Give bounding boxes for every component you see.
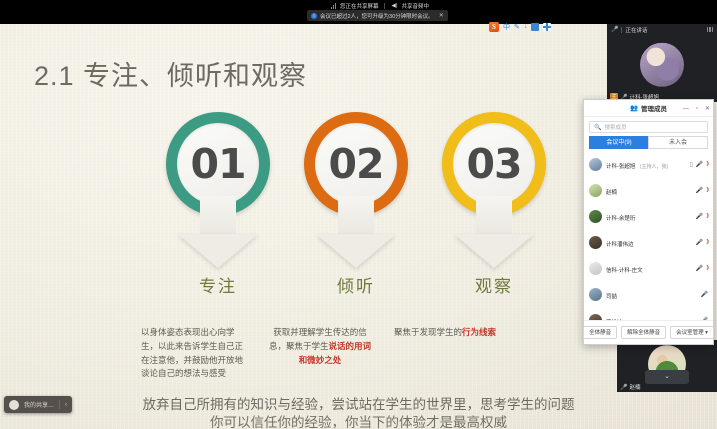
pin-number-3: 03 — [442, 112, 546, 216]
participant-info: 计科-张超旭 (主持人，我) — [606, 155, 686, 173]
participant-name: 计科-张超旭 — [606, 164, 635, 170]
pen-icon[interactable]: ✎ — [514, 23, 520, 31]
audio-wave-icon: )) — [706, 239, 708, 245]
divider — [59, 400, 60, 409]
pin-marker-1: 01 专注 — [152, 112, 284, 297]
participant-info: 贾皓迪 — [606, 311, 697, 320]
user-avatar-icon — [9, 400, 19, 410]
audio-wave-icon: )) — [706, 187, 708, 193]
mic-icon[interactable]: ↓ — [524, 23, 528, 30]
members-panel: 👥 管理成员 — ▫ ✕ 🔍 搜索成员 会议中(9) 未入会 计科-张超旭 (主… — [583, 99, 714, 345]
avatar — [589, 210, 602, 223]
slide-footer-line-2: 你可以信任你的经验，你当下的体验才是最高权威 — [0, 414, 717, 429]
notification-toast: i 会议已超过2人，您可升级为30分钟限时会议。 ✕ — [307, 10, 448, 21]
page-title: 2.1 专注、倾听和观察 — [34, 54, 307, 93]
mute-all-button[interactable]: 全体静音 — [583, 326, 617, 339]
list-item[interactable]: 计科-张超旭 (主持人，我) ▯ 🎤 )) — [584, 151, 713, 177]
audio-wave-icon: )) — [706, 161, 708, 167]
panel-footer: 全体静音 解除全体静音 会议室管理 ▾ — [584, 320, 713, 344]
signal-bars-icon — [331, 3, 336, 9]
video-tile-footer: 🎤 赵楠 — [617, 382, 644, 392]
mic-muted-icon[interactable]: 🎤 — [701, 291, 708, 298]
panel-title: 👥 管理成员 — [630, 103, 667, 113]
pin-label-3: 观察 — [428, 272, 560, 297]
mic-muted-icon[interactable]: 🎤 — [696, 187, 703, 194]
participant-name: 计科潘伟边 — [606, 242, 634, 248]
divider — [621, 27, 622, 33]
body-column-2: 获取并理解学生传达的信息，聚焦于学生说话的用词和微妙之处 — [266, 326, 374, 367]
mic-muted-icon[interactable]: 🎤 — [696, 239, 703, 246]
tab-not-joined[interactable]: 未入会 — [648, 136, 708, 149]
video-tile-participant[interactable]: 🎤 赵楠 — [617, 340, 717, 392]
audio-wave-icon: )) — [706, 265, 708, 271]
pin-label-2: 倾听 — [290, 272, 422, 297]
avatar — [589, 288, 602, 301]
close-icon[interactable]: ✕ — [705, 105, 710, 112]
participant-list[interactable]: 计科-张超旭 (主持人，我) ▯ 🎤 )) 赵楠 🎤 )) — [584, 149, 713, 320]
participant-info: 信科-计科-庄文 — [606, 259, 692, 277]
body-column-1: 以身体姿态表现出心向学生，以此来告诉学生自己正在注意他，并鼓励他开放地谈论自己的… — [141, 326, 249, 381]
mic-icon: 🎤 — [611, 26, 618, 33]
pin-ring-1: 01 — [166, 112, 270, 216]
search-box[interactable]: 🔍 搜索成员 — [589, 121, 708, 133]
list-item[interactable]: 贾皓迪 🎤 — [584, 307, 713, 320]
body-highlight-3: 行为线索 — [462, 327, 496, 337]
participant-name: 赵楠 — [629, 383, 640, 391]
close-icon[interactable]: ✕ — [439, 12, 444, 19]
participant-controls[interactable]: 🎤 )) — [696, 213, 708, 220]
participant-name: 信科-计科-庄文 — [606, 268, 643, 274]
avatar — [589, 262, 602, 275]
avatar — [589, 184, 602, 197]
panel-tabs: 会议中(9) 未入会 — [589, 136, 708, 149]
unmute-all-button[interactable]: 解除全体静音 — [621, 326, 666, 339]
pin-ring-2: 02 — [304, 112, 408, 216]
participant-controls[interactable]: 🎤 )) — [696, 239, 708, 246]
participant-info: 赵楠 — [606, 181, 692, 199]
tab-in-meeting[interactable]: 会议中(9) — [589, 136, 648, 149]
ime-toolbar[interactable]: S 中 ✎ ↓ — [487, 20, 553, 33]
minimize-icon[interactable]: — — [683, 106, 689, 112]
body-column-3: 聚焦于发现学生的行为线索 — [394, 326, 554, 340]
maximize-icon[interactable]: ▫ — [696, 106, 698, 112]
list-item[interactable]: 司喆 🎤 — [584, 281, 713, 307]
notification-text: 会议已超过2人，您可升级为30分钟限时会议。 — [320, 12, 434, 20]
audio-wave-icon: )) — [706, 213, 708, 219]
avatar — [640, 43, 684, 87]
pin-ring-3: 03 — [442, 112, 546, 216]
participant-controls[interactable]: 🎤 )) — [696, 265, 708, 272]
participant-name: 赵楠 — [606, 190, 617, 196]
panel-titlebar: 👥 管理成员 — ▫ ✕ — [584, 100, 713, 117]
list-item[interactable]: 赵楠 🎤 )) — [584, 177, 713, 203]
people-icon: 👥 — [630, 104, 638, 112]
grid-icon[interactable] — [543, 23, 551, 31]
mic-muted-icon[interactable]: 🎤 — [696, 161, 703, 168]
participant-role: (主持人，我) — [640, 164, 668, 170]
participant-controls[interactable]: ▯ 🎤 )) — [690, 161, 708, 168]
video-tile-speaker[interactable]: 🎤 正在讲话 主 🎤 计科-张超旭 — [607, 24, 717, 102]
search-input[interactable]: 搜索成员 — [604, 123, 626, 131]
collapse-video-panel-button[interactable]: ⌄ — [645, 370, 689, 384]
slide-footer: 放弃自己所拥有的知识与经验，尝试站在学生的世界里，思考学生的问题 你可以信任你的… — [0, 396, 717, 429]
slide-footer-line-1: 放弃自己所拥有的知识与经验，尝试站在学生的世界里，思考学生的问题 — [0, 396, 717, 414]
share-audio-label: 共享音频中 — [402, 2, 430, 10]
list-item[interactable]: 信科-计科-庄文 🎤 )) — [584, 255, 713, 281]
signal-bars-icon — [707, 27, 714, 32]
mic-muted-icon: 🎤 — [620, 384, 627, 391]
participant-info: 计科-余楚珩 — [606, 207, 692, 225]
pin-label-1: 专注 — [152, 272, 284, 297]
body-text-3: 聚焦于发现学生的 — [394, 327, 462, 337]
pin-marker-2: 02 倾听 — [290, 112, 422, 297]
mic-muted-icon[interactable]: 🎤 — [696, 265, 703, 272]
mic-muted-icon[interactable]: 🎤 — [696, 213, 703, 220]
room-management-button[interactable]: 会议室管理 ▾ — [670, 326, 714, 339]
list-item[interactable]: 计科-余楚珩 🎤 )) — [584, 203, 713, 229]
search-icon: 🔍 — [594, 124, 601, 131]
participant-controls[interactable]: 🎤 — [701, 291, 708, 298]
speaking-status-label: 正在讲话 — [625, 26, 647, 34]
list-item[interactable]: 计科潘伟边 🎤 )) — [584, 229, 713, 255]
mini-toolbar-label: 我的共享… — [24, 400, 54, 409]
avatar — [589, 158, 602, 171]
info-icon: i — [311, 13, 317, 19]
participant-info: 司喆 — [606, 285, 697, 303]
screen-share-label: 您正在共享屏幕 — [340, 2, 379, 10]
camera-icon[interactable]: ▯ — [690, 161, 693, 168]
video-tile-header: 🎤 正在讲话 — [607, 24, 717, 35]
chevron-left-icon[interactable]: ‹ — [65, 402, 67, 408]
ime-language-toggle[interactable]: 中 — [503, 22, 510, 32]
screen-root: 2.1 专注、倾听和观察 01 专注 02 倾听 03 — [0, 0, 717, 429]
screen-share-indicator: 您正在共享屏幕 ◀) 共享音频中 — [331, 1, 429, 10]
pin-number-2: 02 — [304, 112, 408, 216]
divider — [384, 3, 385, 9]
window-controls: — ▫ ✕ — [683, 100, 710, 117]
pin-marker-3: 03 观察 — [428, 112, 560, 297]
share-mini-toolbar[interactable]: 我的共享… ‹ — [4, 396, 72, 413]
participant-name: 司喆 — [606, 294, 617, 300]
avatar — [589, 236, 602, 249]
participant-name: 计科-余楚珩 — [606, 216, 635, 222]
pin-number-1: 01 — [166, 112, 270, 216]
panel-title-label: 管理成员 — [641, 103, 667, 113]
speaker-icon: ◀) — [391, 3, 397, 9]
participant-controls[interactable]: 🎤 )) — [696, 187, 708, 194]
body-text-1: 以身体姿态表现出心向学生，以此来告诉学生自己正在注意他，并鼓励他开放地谈论自己的… — [141, 327, 243, 378]
top-bar: 您正在共享屏幕 ◀) 共享音频中 i 会议已超过2人，您可升级为30分钟限时会议… — [0, 0, 717, 24]
sogou-logo-icon[interactable]: S — [489, 22, 499, 32]
keyboard-icon[interactable] — [531, 23, 539, 31]
participant-info: 计科潘伟边 — [606, 233, 692, 251]
